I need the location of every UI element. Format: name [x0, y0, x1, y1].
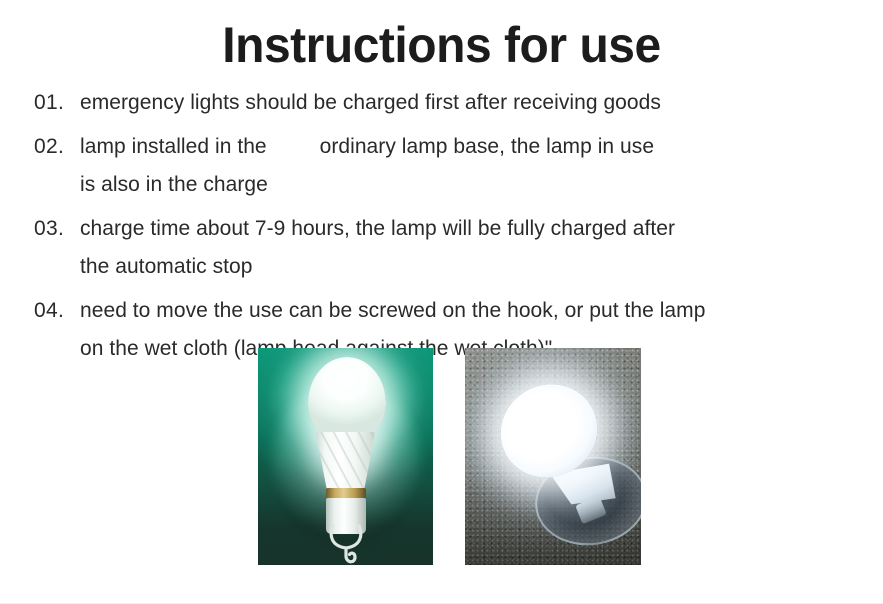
list-item-marker: 04.: [34, 292, 78, 330]
list-item: 03. charge time about 7-9 hours, the lam…: [34, 210, 864, 286]
list-item-marker: 02.: [34, 128, 78, 166]
page-title: Instructions for use: [18, 16, 866, 74]
list-item: 04. need to move the use can be screwed …: [34, 292, 864, 368]
list-item-line: the automatic stop: [80, 248, 864, 286]
list-item-text: charge time about 7-9 hours, the lamp wi…: [80, 210, 864, 286]
list-item-line: lamp installed in the ordinary lamp base…: [80, 128, 864, 166]
bulb-globe: [308, 357, 386, 443]
list-item-marker: 03.: [34, 210, 78, 248]
list-item-text: lamp installed in the ordinary lamp base…: [80, 128, 864, 204]
list-item: 02. lamp installed in the ordinary lamp …: [34, 128, 864, 204]
list-item-line: need to move the use can be screwed on t…: [80, 292, 864, 330]
bulb-hook: [328, 524, 364, 565]
list-item-marker: 01.: [34, 84, 78, 122]
list-item-text: emergency lights should be charged first…: [80, 84, 864, 122]
list-item-line: charge time about 7-9 hours, the lamp wi…: [80, 210, 864, 248]
photo-bulb-on-concrete: [465, 348, 641, 565]
list-item-line: emergency lights should be charged first…: [80, 84, 864, 122]
list-item-line: is also in the charge: [80, 166, 864, 204]
list-item: 01. emergency lights should be charged f…: [34, 84, 864, 122]
photo-bulb-green-background: [258, 348, 433, 565]
instruction-sheet: Instructions for use 01. emergency light…: [0, 0, 883, 604]
instruction-list: 01. emergency lights should be charged f…: [34, 84, 864, 374]
